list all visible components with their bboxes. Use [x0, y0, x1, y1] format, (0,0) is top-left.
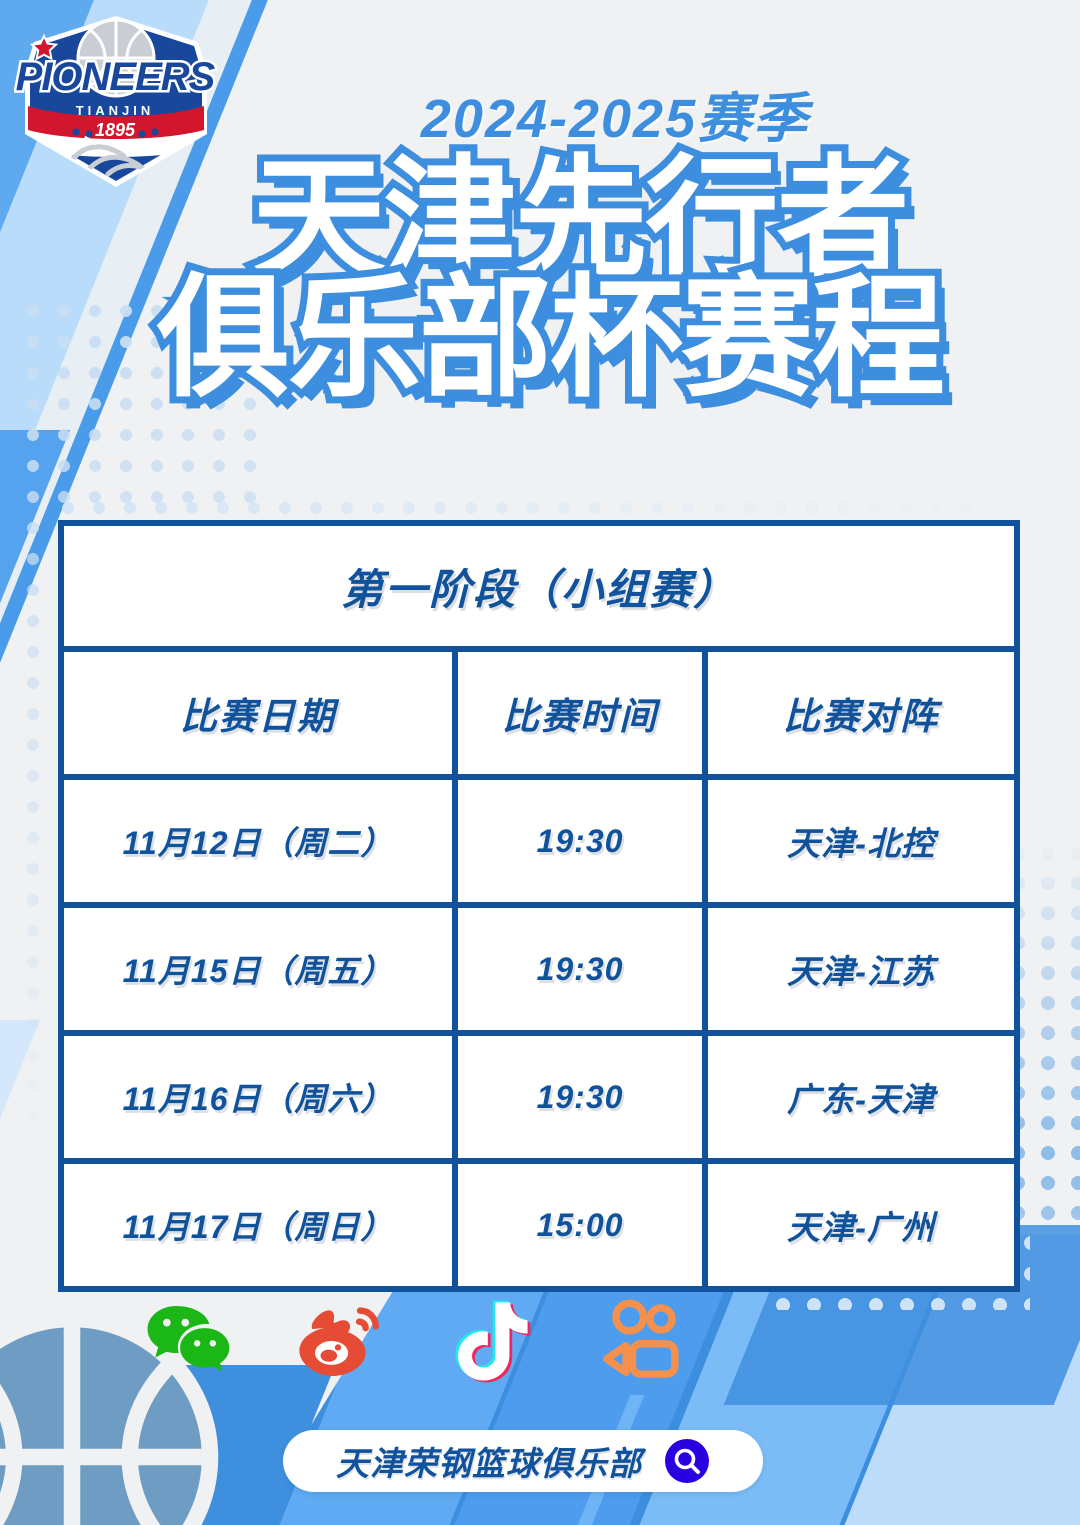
weibo-icon[interactable]	[292, 1295, 384, 1387]
wechat-icon[interactable]	[142, 1295, 234, 1387]
column-header-date: 比赛日期	[64, 652, 458, 774]
cell-time: 15:00	[458, 1164, 708, 1286]
stage-title: 第一阶段（小组赛）	[64, 526, 1014, 652]
diagonal-band	[0, 1020, 40, 1190]
table-row: 11月16日（周六） 19:30 广东-天津	[64, 1036, 1014, 1164]
table-row: 11月17日（周日） 15:00 天津-广州	[64, 1164, 1014, 1286]
cell-match: 天津-江苏	[708, 908, 1014, 1030]
table-row: 11月15日（周五） 19:30 天津-江苏	[64, 908, 1014, 1036]
social-icons	[0, 1295, 1080, 1387]
schedule-poster: PIONEERS TIANJIN 1895 2024-2025赛季 天津先行者 …	[0, 0, 1080, 1525]
page-title: 天津先行者 俱乐部杯赛程	[0, 152, 1080, 408]
season-label: 2024-2025赛季	[0, 74, 1080, 153]
schedule-table: 第一阶段（小组赛） 比赛日期 比赛时间 比赛对阵 11月12日（周二） 19:3…	[58, 520, 1020, 1292]
column-header-time: 比赛时间	[458, 652, 708, 774]
cell-match: 天津-广州	[708, 1164, 1014, 1286]
cell-date: 11月15日（周五）	[64, 908, 458, 1030]
cell-date: 11月16日（周六）	[64, 1036, 458, 1158]
cell-time: 19:30	[458, 908, 708, 1030]
table-row: 11月12日（周二） 19:30 天津-北控	[64, 780, 1014, 908]
account-name: 天津荣钢篮球俱乐部	[336, 1437, 642, 1485]
cell-time: 19:30	[458, 780, 708, 902]
cell-match: 天津-北控	[708, 780, 1014, 902]
douyin-icon[interactable]	[442, 1295, 534, 1387]
cell-date: 11月17日（周日）	[64, 1164, 458, 1286]
account-pill[interactable]: 天津荣钢篮球俱乐部	[283, 1430, 763, 1492]
kuaishou-icon[interactable]	[592, 1295, 684, 1387]
search-icon[interactable]	[664, 1438, 710, 1484]
title-line-2: 俱乐部杯赛程	[0, 271, 1080, 408]
column-header-match: 比赛对阵	[708, 652, 1014, 774]
cell-time: 19:30	[458, 1036, 708, 1158]
cell-date: 11月12日（周二）	[64, 780, 458, 902]
cell-match: 广东-天津	[708, 1036, 1014, 1158]
table-header-row: 比赛日期 比赛时间 比赛对阵	[64, 652, 1014, 780]
